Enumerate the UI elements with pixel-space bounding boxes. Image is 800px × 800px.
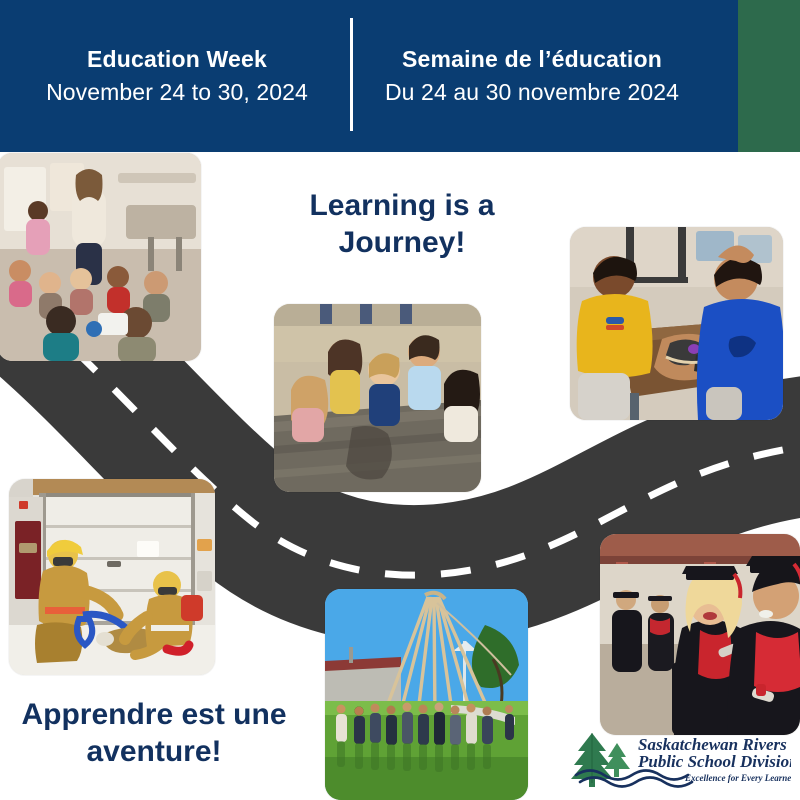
photo-firefighter-training-art: [9, 479, 215, 675]
header-english-dates: November 24 to 30, 2024: [46, 78, 308, 107]
photo-outdoor-picnic-table-art: [274, 304, 481, 492]
logo-line-2: Public School Division: [637, 752, 791, 771]
school-division-logo: Saskatchewan Rivers Public School Divisi…: [566, 731, 791, 793]
photo-firefighter-training: [9, 479, 215, 675]
tagline-french: Apprendre est une aventure!: [4, 697, 304, 770]
education-week-poster: Education Week November 24 to 30, 2024 S…: [0, 0, 800, 800]
photo-classroom-circle-art: [0, 153, 201, 361]
tagline-english: Learning is a Journey!: [252, 188, 552, 261]
header-french-dates: Du 24 au 30 novembre 2024: [385, 78, 679, 107]
logo-tagline: Excellence for Every Learner: [684, 773, 791, 783]
photo-tipi-raising: [325, 589, 528, 800]
photo-classroom-circle: [0, 153, 201, 361]
header-english-title: Education Week: [87, 45, 267, 74]
photo-outdoor-picnic-table: [274, 304, 481, 492]
photo-graduation-art: [600, 534, 800, 735]
photo-tipi-raising-art: [325, 589, 528, 800]
photo-graduation: [600, 534, 800, 735]
photo-craft-project: [570, 227, 783, 420]
header-french-title: Semaine de l’éducation: [402, 45, 662, 74]
school-division-logo-art: Saskatchewan Rivers Public School Divisi…: [566, 731, 791, 793]
header-french-column: Semaine de l’éducation Du 24 au 30 novem…: [362, 0, 702, 152]
header-green-accent-block: [738, 0, 800, 152]
header-vertical-divider: [350, 18, 353, 131]
header-english-column: Education Week November 24 to 30, 2024: [12, 0, 342, 152]
photo-craft-project-art: [570, 227, 783, 420]
pine-tree-small-icon: [604, 743, 630, 777]
